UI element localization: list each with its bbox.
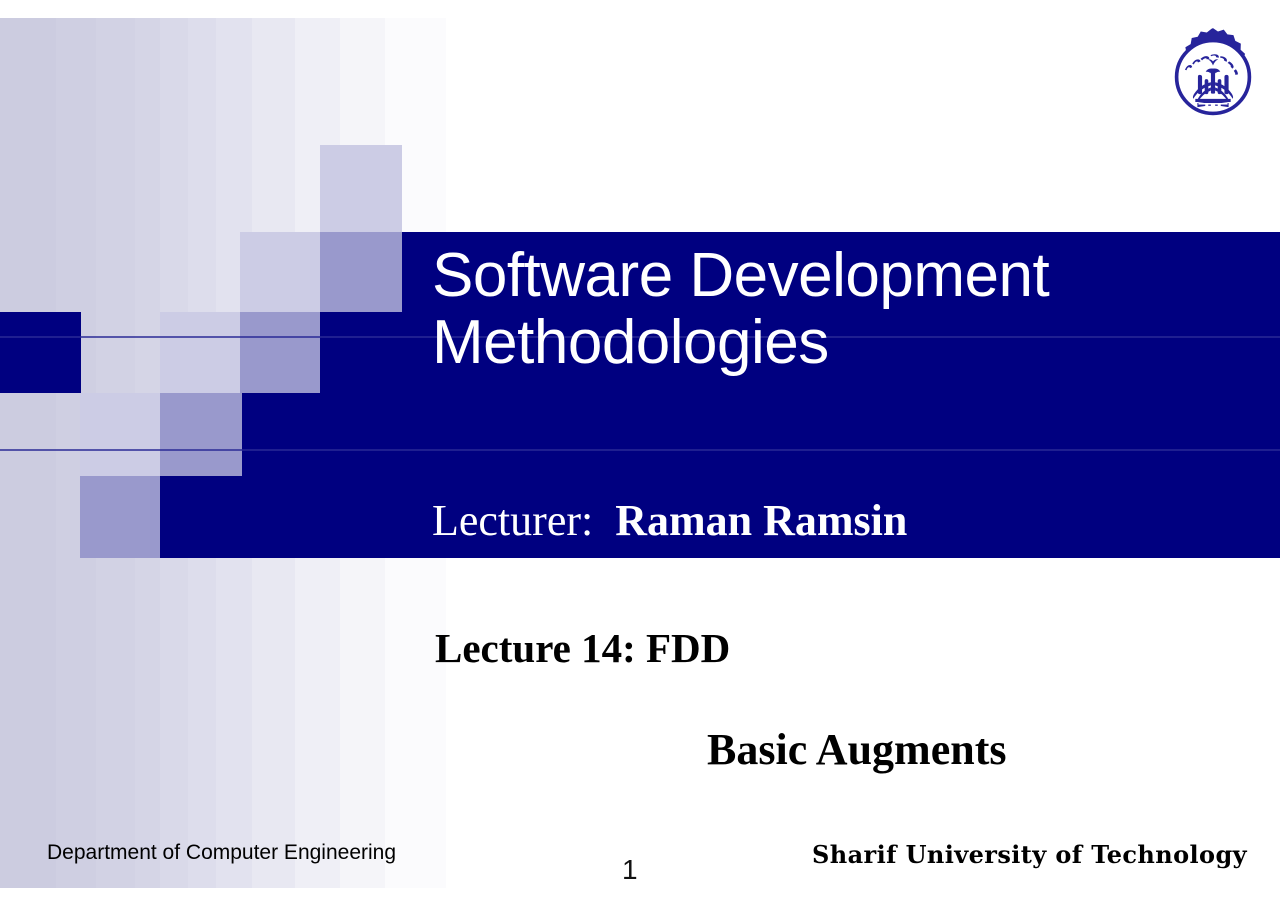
decorative-block-purple-lower [160, 393, 242, 476]
navy-separator-1 [0, 449, 1280, 451]
slide-title-line-2: Methodologies [432, 310, 1222, 377]
lecturer-name: Raman Ramsin [615, 496, 907, 545]
navy-left-stub [0, 312, 81, 393]
slide-title-line-1: Software Development [432, 243, 1222, 310]
slide-subtitle: Basic Augments [707, 724, 1006, 775]
footer-department: Department of Computer Engineering [47, 841, 396, 865]
lecturer-line: Lecturer: Raman Ramsin [432, 498, 907, 544]
decorative-block-lavender-top [320, 145, 402, 232]
sharif-university-logo-icon [1161, 23, 1265, 131]
decorative-block-lavender-mid [240, 232, 320, 312]
footer-university: Sharif University of Technology [812, 840, 1247, 869]
decorative-block-lavender-lower [160, 312, 240, 393]
decorative-stripe-0 [0, 18, 56, 888]
footer-page-number: 1 [622, 854, 638, 886]
presentation-slide: Software Development Methodologies Lectu… [0, 0, 1280, 905]
lecture-number: Lecture 14: FDD [435, 624, 730, 672]
lecturer-label: Lecturer: [432, 496, 604, 545]
decorative-block-lavender-bottom [80, 393, 160, 476]
decorative-block-purple-bottom [80, 476, 160, 558]
decorative-block-purple-mid [240, 312, 320, 393]
navy-step-3 [242, 393, 1280, 476]
decorative-block-purple-upper [320, 232, 402, 312]
slide-title: Software Development Methodologies [432, 243, 1222, 377]
